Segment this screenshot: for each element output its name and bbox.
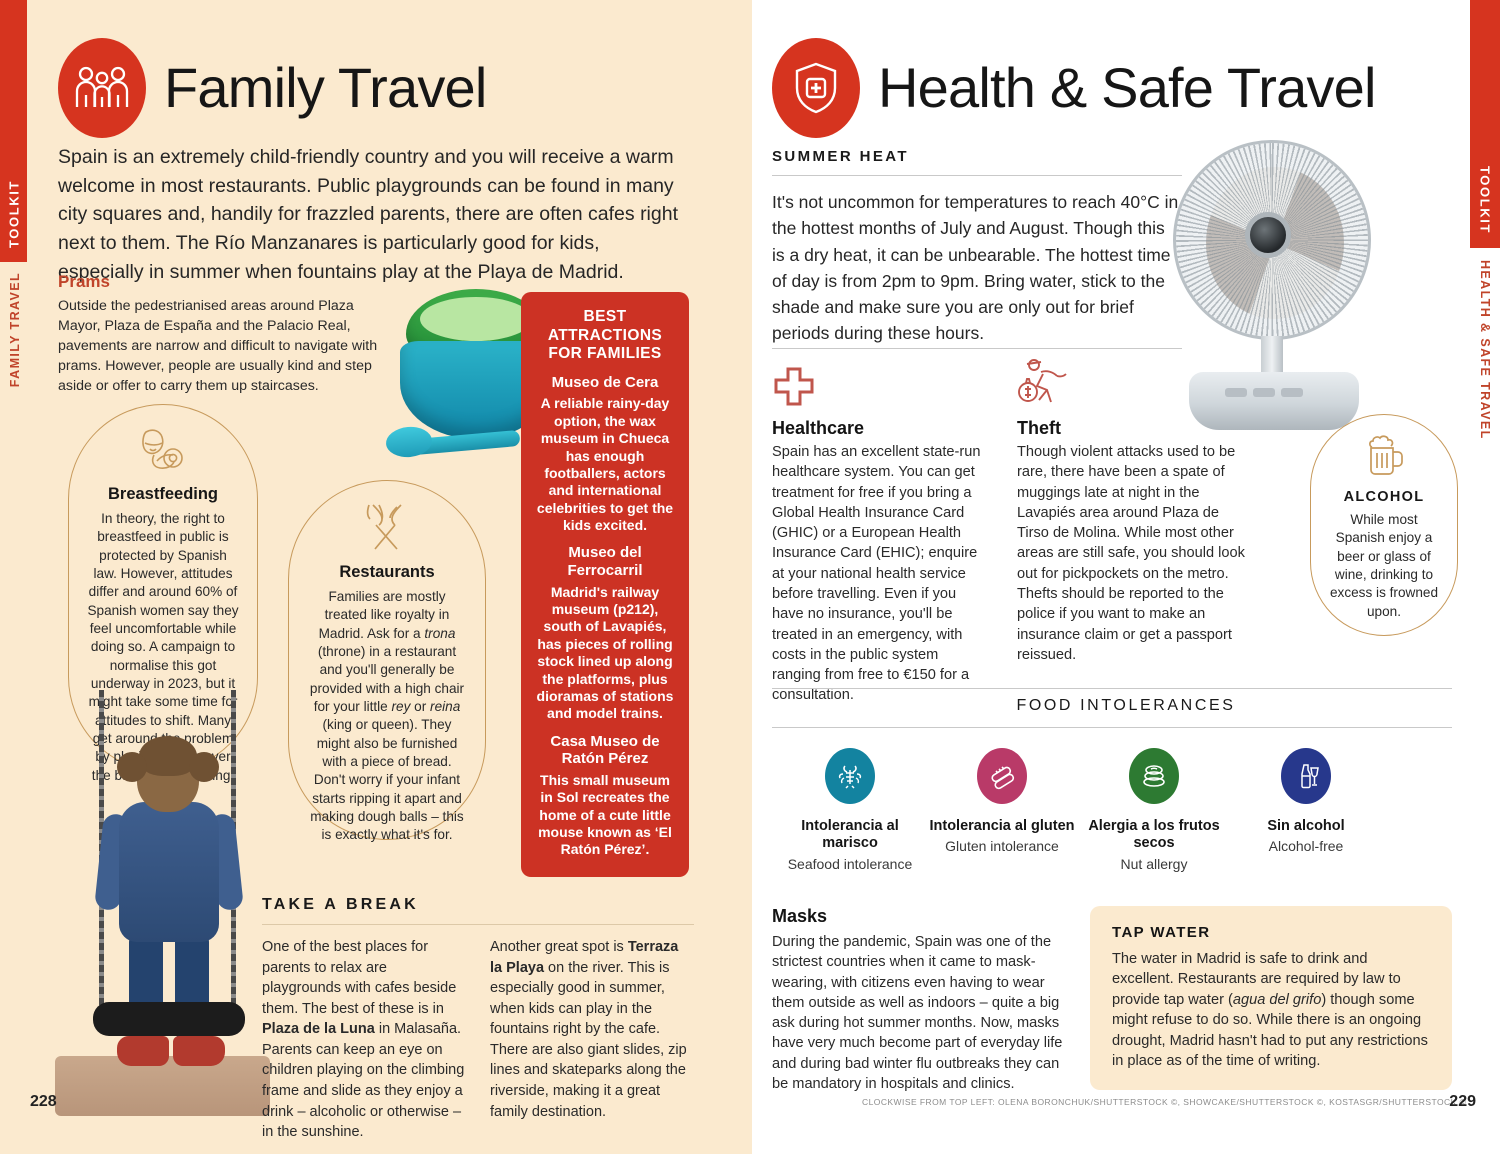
intolerance-item: Intolerancia al marisco Seafood intolera… bbox=[774, 748, 926, 873]
family-travel-intro: Spain is an extremely child-friendly cou… bbox=[58, 143, 683, 286]
medical-cross-icon bbox=[772, 366, 816, 413]
attraction-name-1: Museo del Ferrocarril bbox=[535, 544, 675, 579]
theft-body: Though violent attacks used to be rare, … bbox=[1017, 442, 1245, 665]
summer-heat-body: It's not uncommon for temperatures to re… bbox=[772, 189, 1182, 347]
fork-and-knife-icon bbox=[307, 501, 467, 553]
restaurants-bubble: Restaurants Families are mostly treated … bbox=[288, 480, 486, 840]
best-attractions-box: BEST ATTRACTIONS FOR FAMILIES Museo de C… bbox=[521, 292, 689, 877]
take-a-break-col-1: One of the best places for parents to re… bbox=[262, 937, 466, 1143]
lobster-icon bbox=[825, 748, 875, 804]
attraction-name-2: Casa Museo de Ratón Pérez bbox=[535, 733, 675, 768]
shield-medical-cross-icon bbox=[772, 38, 860, 138]
attraction-text-0: A reliable rainy-day option, the wax mus… bbox=[535, 395, 675, 534]
left-page: TOOLKIT FAMILY TRAVEL Family Travel Spai… bbox=[0, 0, 752, 1154]
beer-mug-icon bbox=[1325, 431, 1443, 479]
intolerance-item: Sin alcohol Alcohol-free bbox=[1230, 748, 1382, 873]
food-intolerances-bottom-divider bbox=[772, 727, 1452, 728]
intolerance-es-1: Intolerancia al gluten bbox=[926, 818, 1078, 835]
photo-credits: CLOCKWISE FROM TOP LEFT: OLENA BORONCHUK… bbox=[862, 1097, 1466, 1107]
wine-bottle-and-glass-icon bbox=[1281, 748, 1331, 804]
restaurants-body: Families are mostly treated like royalty… bbox=[307, 588, 467, 845]
book-spread: TOOLKIT FAMILY TRAVEL Family Travel Spai… bbox=[0, 0, 1500, 1154]
left-section-tab-label: FAMILY TRAVEL bbox=[8, 272, 22, 387]
page-title: Family Travel bbox=[164, 60, 487, 116]
intolerance-es-2: Alergia a los frutos secos bbox=[1078, 818, 1230, 853]
family-group-icon bbox=[58, 38, 146, 138]
take-a-break-divider bbox=[262, 924, 694, 925]
alcohol-body: While most Spanish enjoy a beer or glass… bbox=[1325, 511, 1443, 621]
masks-heading: Masks bbox=[772, 906, 827, 927]
food-intolerances-grid: Intolerancia al marisco Seafood intolera… bbox=[774, 748, 1454, 873]
prams-body: Outside the pedestrianised areas around … bbox=[58, 297, 398, 396]
columns-top-divider bbox=[772, 348, 1182, 349]
attraction-text-1: Madrid's railway museum (p212), south of… bbox=[535, 584, 675, 723]
right-page-number: 229 bbox=[1449, 1093, 1476, 1111]
left-toolkit-tab: TOOLKIT bbox=[0, 0, 27, 262]
prams-heading: Prams bbox=[58, 272, 110, 292]
take-a-break-heading: TAKE A BREAK bbox=[262, 896, 694, 924]
summer-heat-divider bbox=[772, 175, 1182, 176]
intolerance-en-2: Nut allergy bbox=[1078, 856, 1230, 874]
family-travel-header: Family Travel bbox=[58, 38, 487, 138]
intolerance-en-0: Seafood intolerance bbox=[774, 856, 926, 874]
nuts-stack-icon bbox=[1129, 748, 1179, 804]
alcohol-bubble: ALCOHOL While most Spanish enjoy a beer … bbox=[1310, 414, 1458, 636]
right-toolkit-tab: TOOLKIT bbox=[1470, 0, 1500, 248]
left-page-number: 228 bbox=[30, 1093, 57, 1111]
food-intolerances-heading: FOOD INTOLERANCES bbox=[752, 697, 1500, 715]
theft-heading: Theft bbox=[1017, 418, 1061, 439]
tap-water-body: The water in Madrid is safe to drink and… bbox=[1112, 949, 1430, 1072]
tap-water-heading: TAP WATER bbox=[1112, 924, 1430, 941]
right-section-tab-label: HEALTH & SAFE TRAVEL bbox=[1478, 260, 1492, 440]
tap-water-box: TAP WATER The water in Madrid is safe to… bbox=[1090, 906, 1452, 1090]
right-page: TOOLKIT HEALTH & SAFE TRAVEL Health & Sa… bbox=[752, 0, 1500, 1154]
best-attractions-title: BEST ATTRACTIONS FOR FAMILIES bbox=[535, 308, 675, 364]
left-toolkit-tab-label: TOOLKIT bbox=[6, 180, 21, 248]
intolerance-en-1: Gluten intolerance bbox=[926, 838, 1078, 856]
electric-fan-photo bbox=[1167, 140, 1382, 450]
intolerance-es-0: Intolerancia al marisco bbox=[774, 818, 926, 853]
page-title: Health & Safe Travel bbox=[878, 60, 1376, 116]
restaurants-title: Restaurants bbox=[307, 563, 467, 582]
intolerance-item: Alergia a los frutos secos Nut allergy bbox=[1078, 748, 1230, 873]
right-toolkit-tab-label: TOOLKIT bbox=[1478, 166, 1493, 234]
healthcare-body: Spain has an excellent state-run healthc… bbox=[772, 442, 990, 706]
attraction-name-0: Museo de Cera bbox=[535, 374, 675, 392]
health-safe-travel-header: Health & Safe Travel bbox=[772, 38, 1376, 138]
take-a-break-col-2: Another great spot is Terraza la Playa o… bbox=[490, 937, 694, 1143]
alcohol-title: ALCOHOL bbox=[1325, 489, 1443, 505]
food-intolerances-top-divider bbox=[772, 688, 1452, 689]
thief-running-with-money-bag-icon bbox=[1017, 358, 1069, 413]
intolerance-item: Intolerancia al gluten Gluten intoleranc… bbox=[926, 748, 1078, 873]
healthcare-heading: Healthcare bbox=[772, 418, 864, 439]
child-on-swing-photo bbox=[55, 690, 270, 1115]
take-a-break-section: TAKE A BREAK One of the best places for … bbox=[262, 896, 694, 1143]
breastfeeding-title: Breastfeeding bbox=[87, 485, 239, 504]
masks-body: During the pandemic, Spain was one of th… bbox=[772, 932, 1070, 1094]
intolerance-en-3: Alcohol-free bbox=[1230, 838, 1382, 856]
mother-and-baby-icon bbox=[87, 425, 239, 475]
summer-heat-heading: SUMMER HEAT bbox=[772, 148, 909, 165]
attraction-text-2: This small museum in Sol recreates the h… bbox=[535, 772, 675, 859]
intolerance-es-3: Sin alcohol bbox=[1230, 818, 1382, 835]
bread-baguette-icon bbox=[977, 748, 1027, 804]
